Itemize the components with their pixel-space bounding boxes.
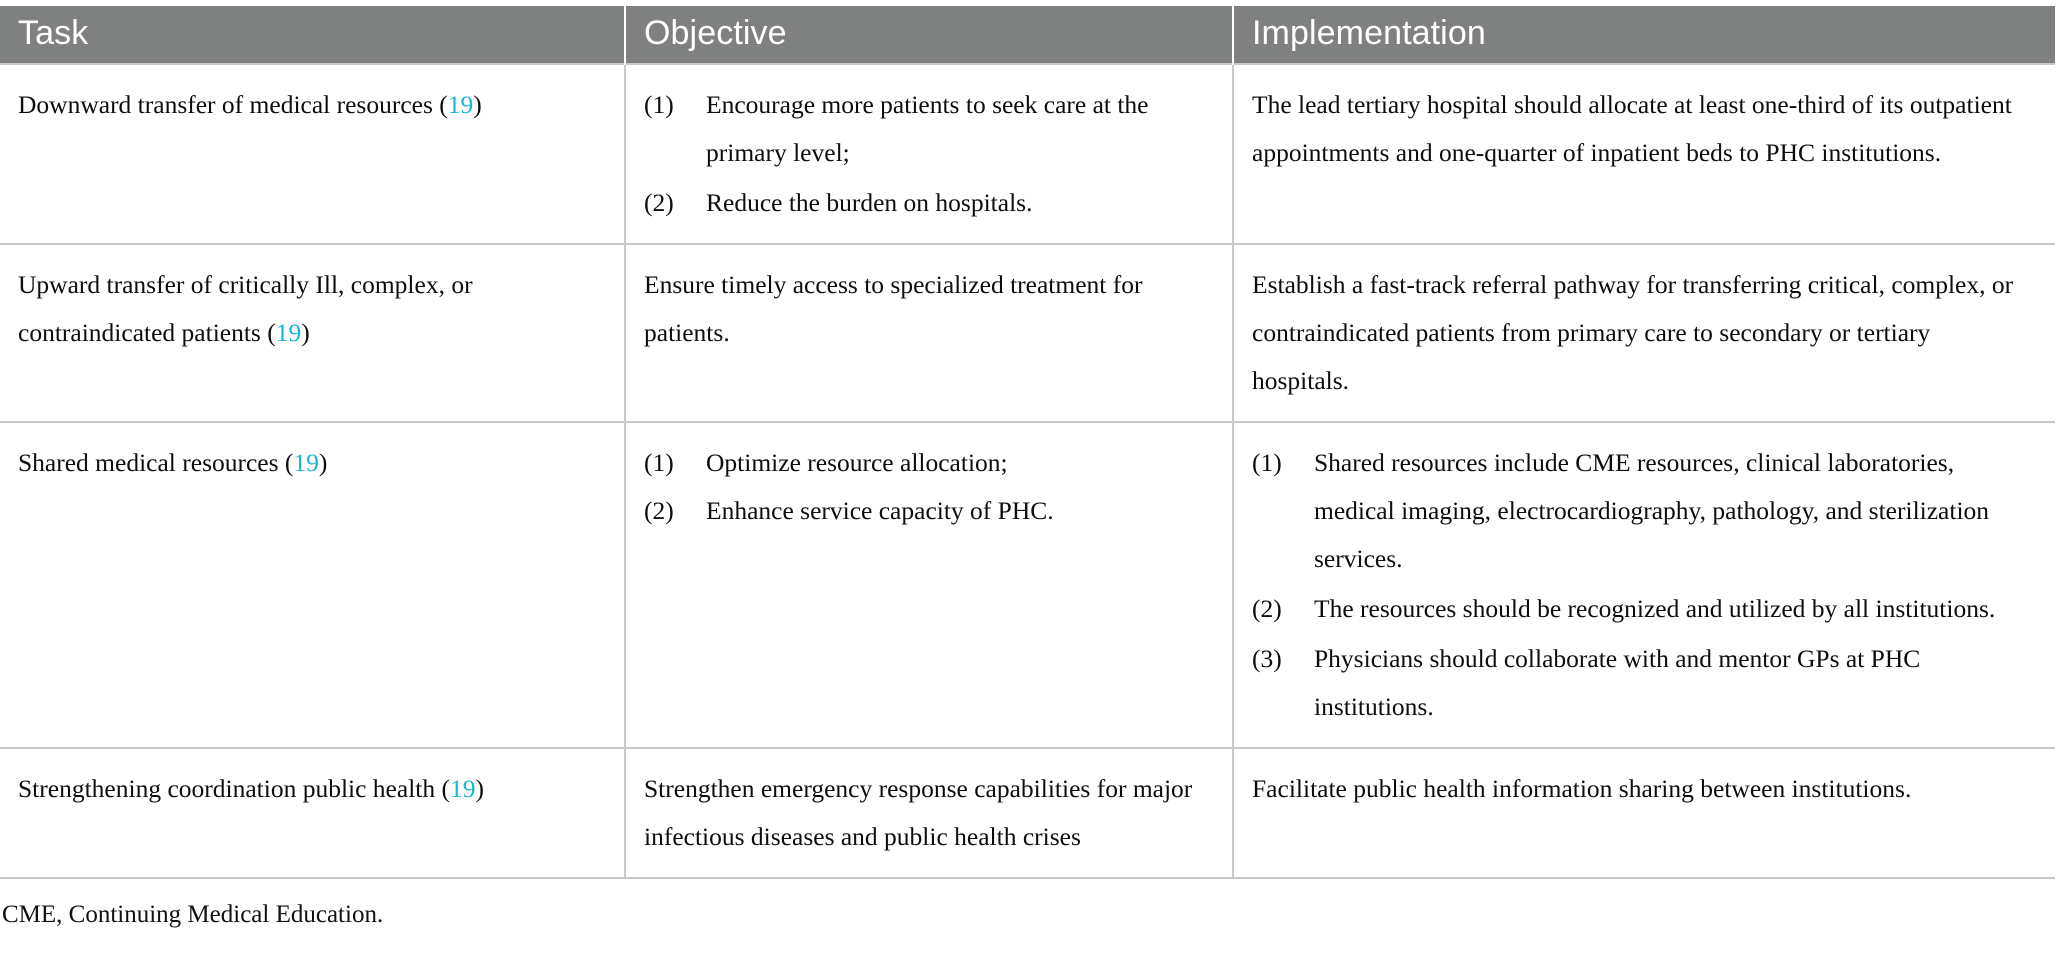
task-text: Strengthening coordination public health… — [18, 774, 450, 803]
list-item: (3) Physicians should collaborate with a… — [1252, 635, 2031, 731]
column-header-task: Task — [0, 6, 625, 64]
objective-text: Ensure timely access to specialized trea… — [644, 261, 1208, 357]
list-marker: (2) — [644, 487, 706, 535]
list-marker: (1) — [644, 81, 706, 129]
citation-suffix: ) — [319, 448, 328, 477]
task-label: Shared medical resources (19) — [18, 439, 600, 487]
list-marker: (1) — [1252, 439, 1314, 487]
list-marker: (2) — [644, 179, 706, 227]
table-footnote: CME, Continuing Medical Education. — [0, 879, 2055, 932]
cell-implementation: Establish a fast-track referral pathway … — [1233, 244, 2055, 422]
cell-implementation: (1) Shared resources include CME resourc… — [1233, 422, 2055, 748]
citation-suffix: ) — [301, 318, 310, 347]
task-label: Upward transfer of critically Ill, compl… — [18, 261, 600, 357]
list-item-text: Shared resources include CME resources, … — [1314, 439, 2031, 583]
cell-implementation: Facilitate public health information sha… — [1233, 748, 2055, 878]
cell-implementation: The lead tertiary hospital should alloca… — [1233, 64, 2055, 244]
cell-objective: (1) Encourage more patients to seek care… — [625, 64, 1233, 244]
cell-task: Shared medical resources (19) — [0, 422, 625, 748]
list-item-text: The resources should be recognized and u… — [1314, 585, 2031, 633]
list-item-text: Optimize resource allocation; — [706, 439, 1208, 487]
cell-objective: (1) Optimize resource allocation; (2) En… — [625, 422, 1233, 748]
citation-link[interactable]: 19 — [293, 448, 319, 477]
task-text: Upward transfer of critically Ill, compl… — [18, 270, 473, 347]
objective-text: Strengthen emergency response capabiliti… — [644, 765, 1208, 861]
cell-task: Strengthening coordination public health… — [0, 748, 625, 878]
list-item: (2) The resources should be recognized a… — [1252, 585, 2031, 633]
objective-list: (1) Optimize resource allocation; (2) En… — [644, 439, 1208, 535]
task-label: Downward transfer of medical resources (… — [18, 81, 600, 129]
implementation-text: Establish a fast-track referral pathway … — [1252, 261, 2031, 405]
list-item-text: Encourage more patients to seek care at … — [706, 81, 1208, 177]
table-row: Strengthening coordination public health… — [0, 748, 2055, 878]
table-row: Upward transfer of critically Ill, compl… — [0, 244, 2055, 422]
implementation-list: (1) Shared resources include CME resourc… — [1252, 439, 2031, 731]
cell-task: Upward transfer of critically Ill, compl… — [0, 244, 625, 422]
list-item: (1) Optimize resource allocation; — [644, 439, 1208, 487]
list-item: (1) Shared resources include CME resourc… — [1252, 439, 2031, 583]
comparison-table: Task Objective Implementation Downward t… — [0, 6, 2055, 879]
implementation-text: Facilitate public health information sha… — [1252, 765, 2031, 813]
list-item-text: Reduce the burden on hospitals. — [706, 179, 1208, 227]
list-item-text: Enhance service capacity of PHC. — [706, 487, 1208, 535]
table-body: Downward transfer of medical resources (… — [0, 64, 2055, 877]
table-header-row: Task Objective Implementation — [0, 6, 2055, 64]
cell-objective: Ensure timely access to specialized trea… — [625, 244, 1233, 422]
citation-link[interactable]: 19 — [448, 90, 474, 119]
task-label: Strengthening coordination public health… — [18, 765, 600, 813]
cell-objective: Strengthen emergency response capabiliti… — [625, 748, 1233, 878]
list-marker: (3) — [1252, 635, 1314, 683]
cell-task: Downward transfer of medical resources (… — [0, 64, 625, 244]
task-text: Shared medical resources ( — [18, 448, 293, 477]
table-page: Task Objective Implementation Downward t… — [0, 0, 2067, 971]
list-marker: (1) — [644, 439, 706, 487]
column-header-objective: Objective — [625, 6, 1233, 64]
table-row: Downward transfer of medical resources (… — [0, 64, 2055, 244]
list-item: (2) Enhance service capacity of PHC. — [644, 487, 1208, 535]
task-text: Downward transfer of medical resources ( — [18, 90, 448, 119]
column-header-implementation: Implementation — [1233, 6, 2055, 64]
citation-link[interactable]: 19 — [450, 774, 476, 803]
list-item: (1) Encourage more patients to seek care… — [644, 81, 1208, 177]
citation-link[interactable]: 19 — [276, 318, 302, 347]
table-row: Shared medical resources (19) (1) Optimi… — [0, 422, 2055, 748]
citation-suffix: ) — [473, 90, 482, 119]
table-header: Task Objective Implementation — [0, 6, 2055, 64]
list-marker: (2) — [1252, 585, 1314, 633]
citation-suffix: ) — [475, 774, 484, 803]
objective-list: (1) Encourage more patients to seek care… — [644, 81, 1208, 227]
implementation-text: The lead tertiary hospital should alloca… — [1252, 81, 2031, 177]
list-item: (2) Reduce the burden on hospitals. — [644, 179, 1208, 227]
list-item-text: Physicians should collaborate with and m… — [1314, 635, 2031, 731]
